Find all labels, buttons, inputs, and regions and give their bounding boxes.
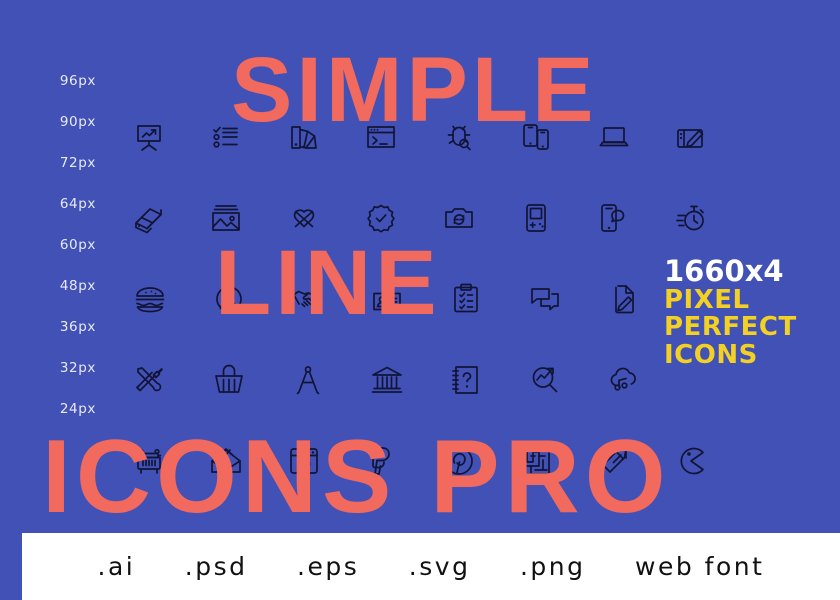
size-label: 64px	[60, 196, 96, 212]
headline-simple: SIMPLE	[231, 44, 597, 136]
size-scale-row: 64px	[0, 183, 108, 224]
eraser-icon	[110, 201, 188, 235]
tools-wrench-screwdriver-icon	[110, 363, 189, 397]
format-ai: .ai	[98, 552, 136, 581]
size-scale-row: 48px	[0, 265, 108, 306]
size-label: 96px	[60, 73, 96, 89]
size-label: 24px	[60, 401, 96, 417]
promo-line-pixel: PIXEL	[664, 287, 797, 315]
promo-block: 1660x4 PIXEL PERFECT ICONS	[664, 256, 797, 369]
icon-size-scale: 96px 90px 72px 64px 60px 48px 36px 32px …	[0, 60, 108, 429]
format-eps: .eps	[297, 552, 359, 581]
headline-icons-pro: ICONS PRO	[42, 425, 671, 529]
size-scale-row: 32px	[0, 347, 108, 388]
size-scale-row: 72px	[0, 142, 108, 183]
handheld-console-icon	[498, 201, 576, 235]
promo-icon-count: 1660x4	[664, 256, 797, 287]
size-label: 60px	[60, 237, 96, 253]
icon-row-32px	[110, 339, 730, 420]
promo-line-perfect: PERFECT	[664, 314, 797, 342]
format-svg: .svg	[409, 552, 471, 581]
verified-badge-icon	[343, 201, 421, 235]
presentation-chart-icon	[110, 120, 188, 154]
shopping-basket-icon	[189, 363, 268, 397]
burger-icon	[110, 282, 189, 316]
size-label: 72px	[60, 155, 96, 171]
camera-refresh-icon	[420, 201, 498, 235]
size-scale-row: 36px	[0, 306, 108, 347]
edit-document-icon	[584, 282, 663, 316]
image-gallery-icon	[188, 201, 266, 235]
compass-divider-icon	[268, 363, 347, 397]
poster-canvas: 96px 90px 72px 64px 60px 48px 36px 32px …	[0, 0, 840, 600]
size-label: 48px	[60, 278, 96, 294]
headline-line: LINE	[215, 237, 441, 329]
format-png: .png	[520, 552, 586, 581]
faq-notebook-icon	[426, 363, 505, 397]
stopwatch-speed-icon	[653, 201, 731, 235]
pretzel-icon	[265, 201, 343, 235]
size-label: 90px	[60, 114, 96, 130]
size-label: 32px	[60, 360, 96, 376]
promo-line-icons: ICONS	[664, 342, 797, 370]
format-web-font: web font	[635, 552, 764, 581]
analytics-trend-icon	[505, 363, 584, 397]
file-formats-bar: .ai .psd .eps .svg .png web font	[22, 533, 840, 600]
graphics-tablet-icon	[653, 120, 731, 154]
format-psd: .psd	[185, 552, 248, 581]
chat-bubbles-icon	[505, 282, 584, 316]
size-scale-row: 96px	[0, 60, 108, 101]
cloud-music-icon	[584, 363, 663, 397]
size-scale-row: 90px	[0, 101, 108, 142]
size-label: 36px	[60, 319, 96, 335]
bank-building-icon	[347, 363, 426, 397]
size-scale-row: 60px	[0, 224, 108, 265]
phone-chat-icon	[575, 201, 653, 235]
